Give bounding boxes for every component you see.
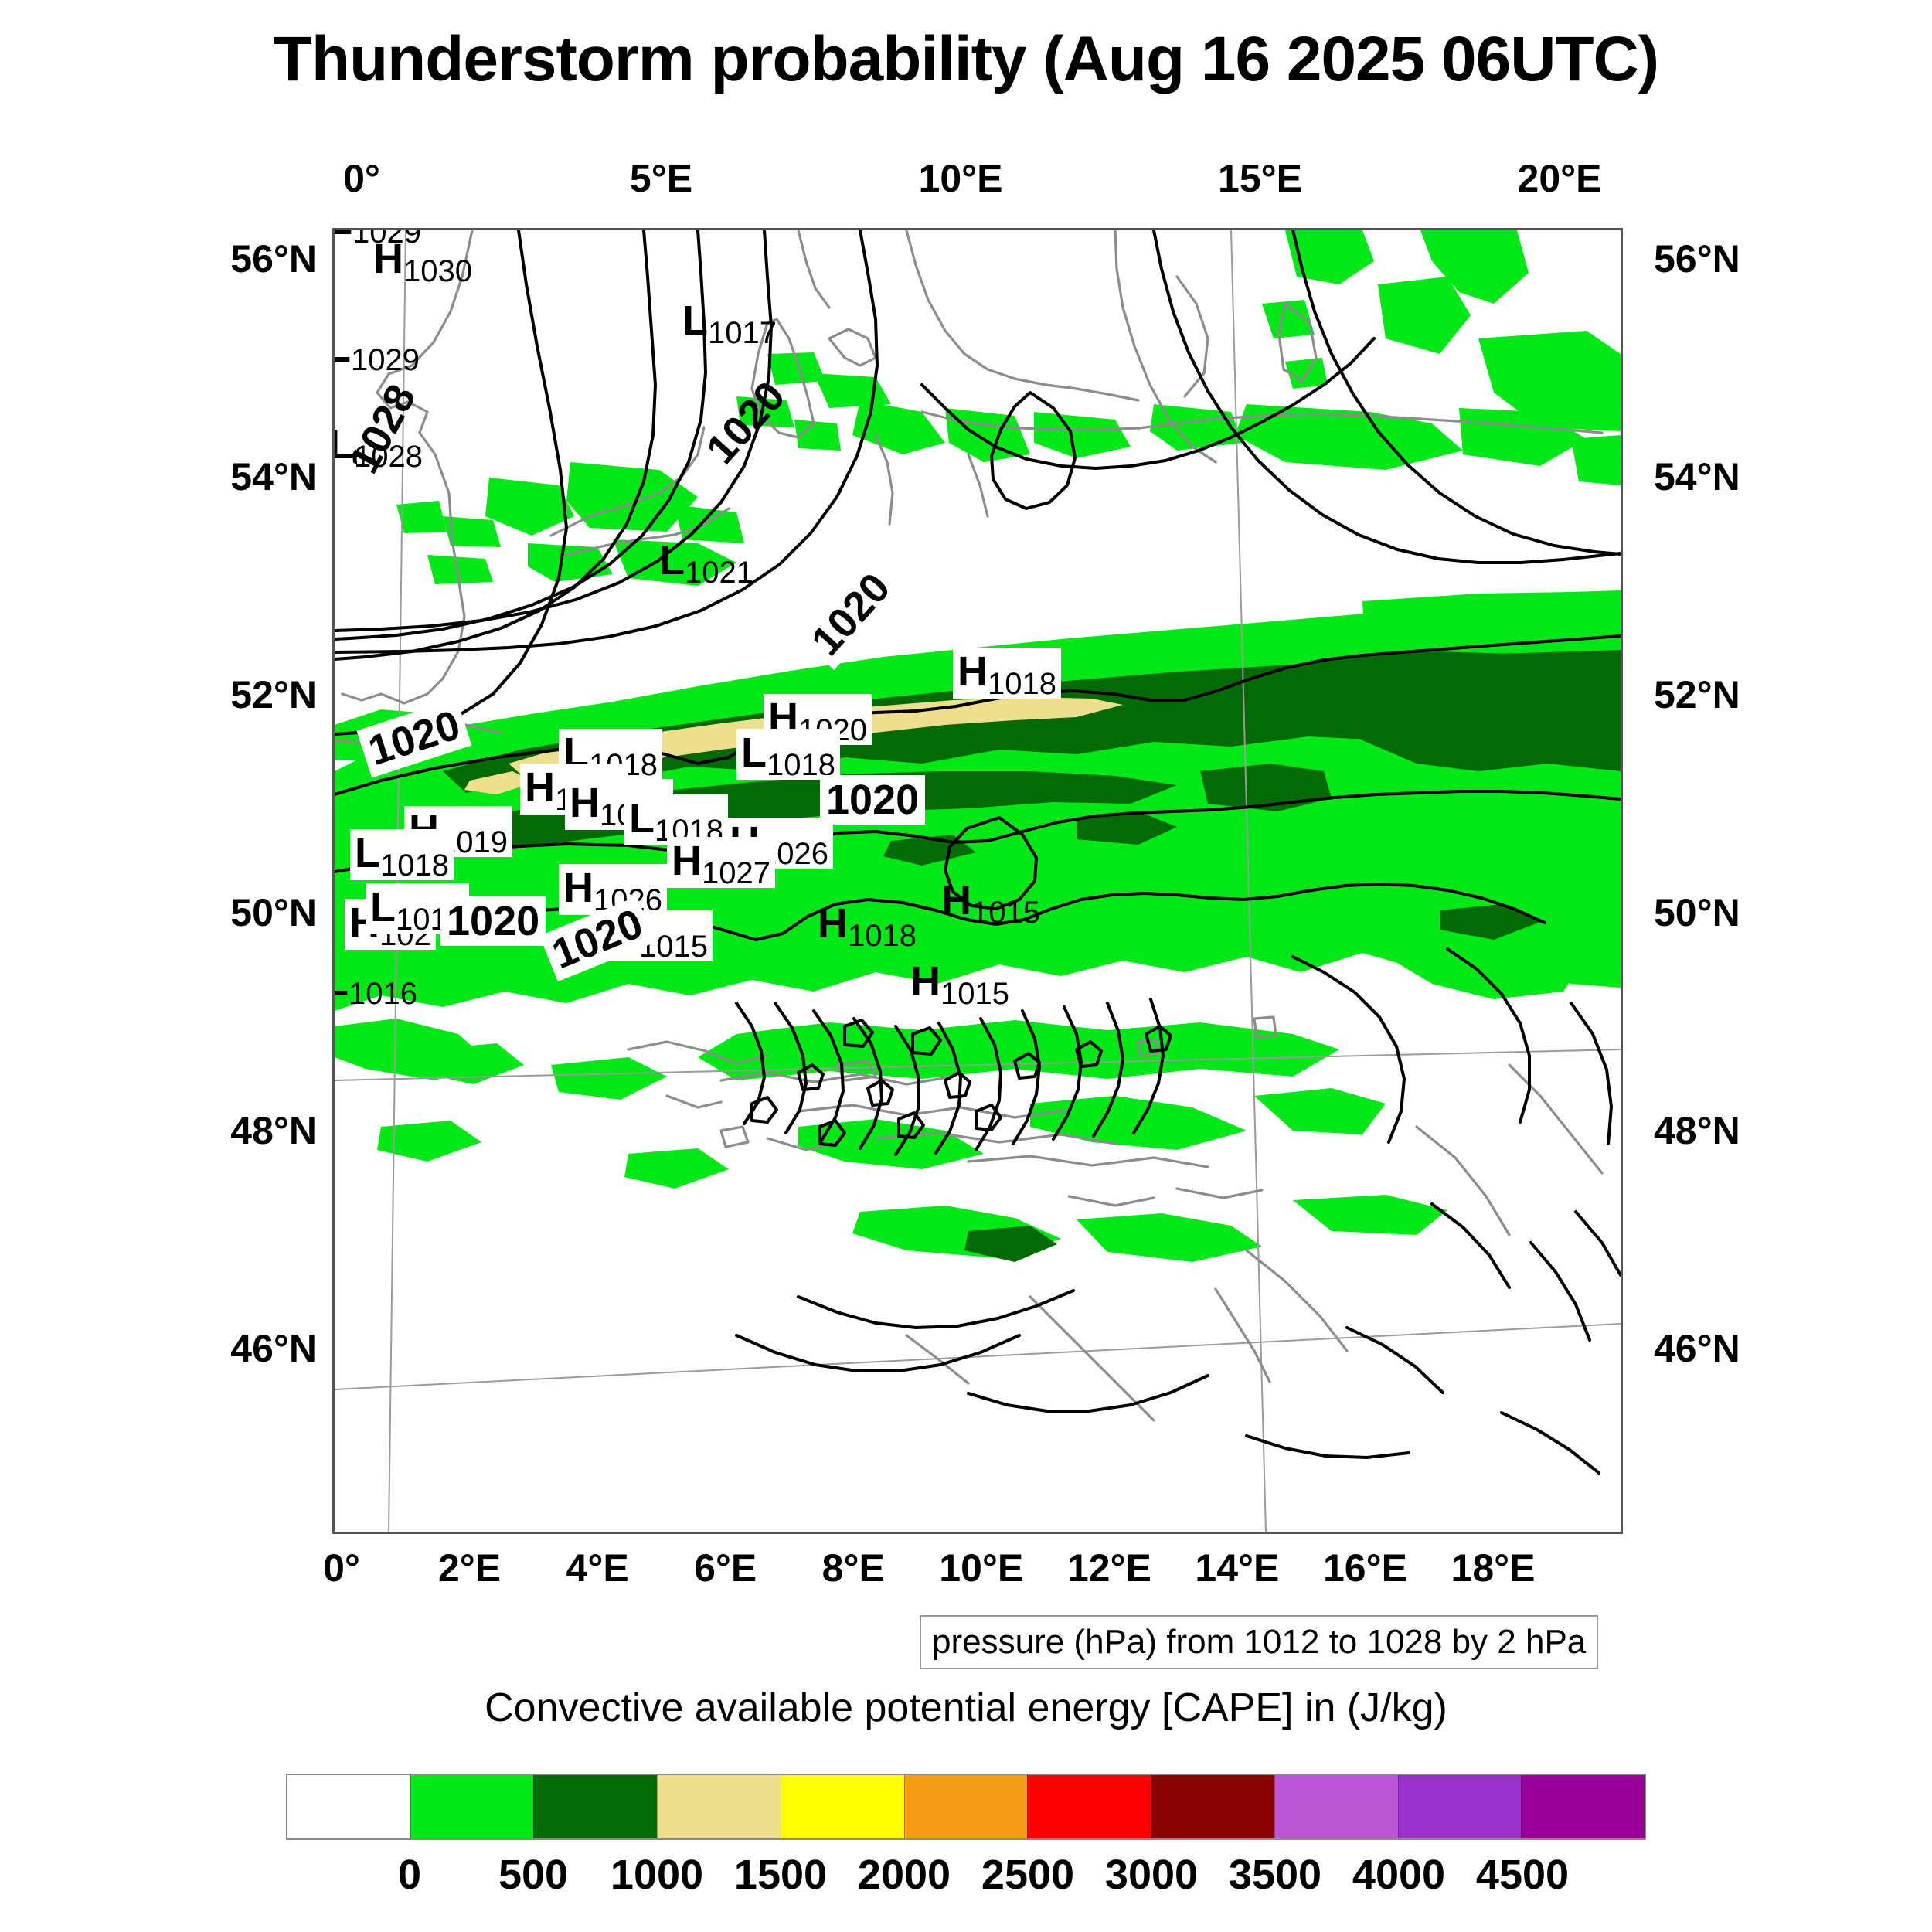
pressure-type: L — [332, 958, 349, 1005]
isobar-value-label: 1020 — [440, 896, 546, 946]
axis-left-tick: 46°N — [230, 1326, 317, 1371]
axis-right-tick: 54°N — [1654, 454, 1740, 499]
colorbar-swatch[interactable] — [781, 1775, 904, 1838]
pressure-value: 1016 — [349, 977, 417, 1011]
pressure-type: H — [373, 236, 403, 282]
pressure-note: pressure (hPa) from 1012 to 1028 by 2 hP… — [920, 1615, 1598, 1669]
pressure-type: L — [682, 298, 708, 344]
pressure-type: H — [525, 764, 555, 811]
pressure-value: 1030 — [403, 254, 472, 288]
colorbar-tick: 2000 — [858, 1851, 951, 1899]
pressure-extremum-l: L1021 — [659, 539, 753, 581]
colorbar-swatch[interactable] — [1027, 1775, 1151, 1838]
axis-bottom-tick: 14°E — [1195, 1546, 1279, 1590]
pressure-type: H — [563, 865, 594, 911]
colorbar-swatch[interactable] — [1151, 1775, 1274, 1838]
pressure-extremum-h: H1015 — [941, 879, 1040, 921]
axis-top: 0°5°E10°E15°E20°E — [332, 147, 1623, 201]
pressure-value: 1015 — [940, 977, 1009, 1011]
pressure-type: H — [818, 900, 848, 947]
axis-bottom-tick: 0° — [323, 1546, 360, 1590]
pressure-value: 1021 — [685, 556, 753, 590]
pressure-type: L — [659, 537, 685, 583]
colorbar-tick: 3000 — [1105, 1851, 1198, 1899]
pressure-extremum-h: H1015 — [910, 961, 1009, 1002]
pressure-value: 1018 — [380, 849, 449, 883]
pressure-extremum-l: L1016 — [332, 961, 417, 1002]
colorbar-swatch[interactable] — [533, 1775, 657, 1838]
colorbar-ticks: 050010001500200025003000350040004500 — [286, 1851, 1646, 1905]
pressure-extremum-h: H1018 — [818, 903, 917, 944]
map-panel[interactable]: L1029H1030L1029L1028L1019L1017L1021H1018… — [332, 228, 1623, 1534]
pressure-value: 1018 — [988, 667, 1056, 701]
axis-right: 56°N54°N52°N50°N48°N46°N — [1631, 228, 1824, 1534]
axis-left-tick: 52°N — [230, 672, 317, 717]
axis-bottom-tick: 6°E — [694, 1546, 757, 1590]
pressure-extremum-l: L1029 — [332, 327, 420, 369]
pressure-value: 1027 — [702, 856, 770, 890]
axis-bottom-tick: 4°E — [566, 1546, 629, 1590]
colorbar-tick: 3500 — [1229, 1851, 1321, 1899]
colorbar-tick: 2500 — [981, 1851, 1074, 1899]
pressure-value: 1015 — [971, 896, 1040, 930]
pressure-type: H — [910, 958, 940, 1005]
colorbar-tick: 4000 — [1352, 1851, 1445, 1899]
colorbar[interactable] — [286, 1774, 1646, 1840]
axis-bottom-tick: 12°E — [1067, 1546, 1151, 1590]
colorbar-swatch[interactable] — [1521, 1775, 1645, 1838]
colorbar-swatch[interactable] — [1274, 1775, 1398, 1838]
axis-left-tick: 48°N — [230, 1108, 317, 1153]
axis-bottom: 0°2°E4°E6°E8°E10°E12°E14°E16°E18°E — [332, 1546, 1623, 1600]
pressure-type: L — [629, 795, 655, 842]
map-canvas[interactable]: L1029H1030L1029L1028L1019L1017L1021H1018… — [335, 230, 1621, 1532]
pressure-type: L — [370, 884, 396, 930]
pressure-type: H — [672, 838, 702, 884]
colorbar-swatch[interactable] — [1398, 1775, 1522, 1838]
axis-left-tick: 56°N — [230, 236, 317, 281]
pressure-type: L — [332, 228, 352, 243]
axis-right-tick: 50°N — [1654, 890, 1740, 935]
pressure-type: L — [741, 730, 767, 776]
axis-right-tick: 46°N — [1654, 1326, 1740, 1371]
colorbar-title: Convective available potential energy [C… — [0, 1685, 1932, 1731]
axis-bottom-tick: 2°E — [438, 1546, 501, 1590]
axis-left-tick: 54°N — [230, 454, 317, 499]
pressure-value: 1029 — [351, 343, 420, 377]
axis-right-tick: 48°N — [1654, 1108, 1740, 1153]
colorbar-tick: 4500 — [1476, 1851, 1569, 1899]
colorbar-swatch[interactable] — [657, 1775, 781, 1838]
colorbar-tick: 0 — [398, 1851, 421, 1899]
axis-top-tick: 20°E — [1518, 156, 1602, 201]
pressure-type: L — [332, 325, 351, 371]
axis-top-tick: 0° — [343, 156, 380, 201]
axis-right-tick: 52°N — [1654, 672, 1740, 717]
colorbar-tick: 500 — [498, 1851, 568, 1899]
pressure-extremum-l: L1018 — [736, 729, 840, 780]
axis-top-tick: 10°E — [919, 156, 1003, 201]
colorbar-swatch[interactable] — [904, 1775, 1028, 1838]
colorbar-tick: 1000 — [611, 1851, 703, 1899]
axis-left: 56°N54°N52°N50°N48°N46°N — [178, 228, 332, 1534]
pressure-extremum-h: H1018 — [953, 648, 1061, 699]
page-title: Thunderstorm probability (Aug 16 2025 06… — [0, 23, 1932, 96]
isobar-value-label: 1020 — [820, 775, 925, 825]
pressure-type: H — [570, 780, 600, 826]
pressure-type: H — [957, 648, 988, 695]
axis-right-tick: 56°N — [1654, 236, 1740, 281]
axis-top-tick: 5°E — [630, 156, 692, 201]
pressure-extremum-l: L1017 — [682, 300, 777, 342]
pressure-extremum-l: L1018 — [350, 829, 454, 880]
axis-left-tick: 50°N — [230, 890, 317, 935]
colorbar-swatch[interactable] — [410, 1775, 534, 1838]
pressure-extremum-h: H1027 — [667, 837, 775, 888]
colorbar-swatch[interactable] — [287, 1775, 410, 1838]
axis-bottom-tick: 8°E — [822, 1546, 885, 1590]
pressure-extremum-h: H1030 — [373, 238, 472, 280]
axis-bottom-tick: 16°E — [1323, 1546, 1407, 1590]
axis-top-tick: 15°E — [1218, 156, 1302, 201]
pressure-value: 1017 — [708, 316, 777, 350]
pressure-type: L — [355, 830, 380, 876]
axis-bottom-tick: 18°E — [1451, 1546, 1536, 1590]
axis-bottom-tick: 10°E — [939, 1546, 1023, 1590]
pressure-type: H — [941, 877, 971, 923]
pressure-value: 1018 — [848, 919, 917, 953]
colorbar-tick: 1500 — [734, 1851, 827, 1899]
